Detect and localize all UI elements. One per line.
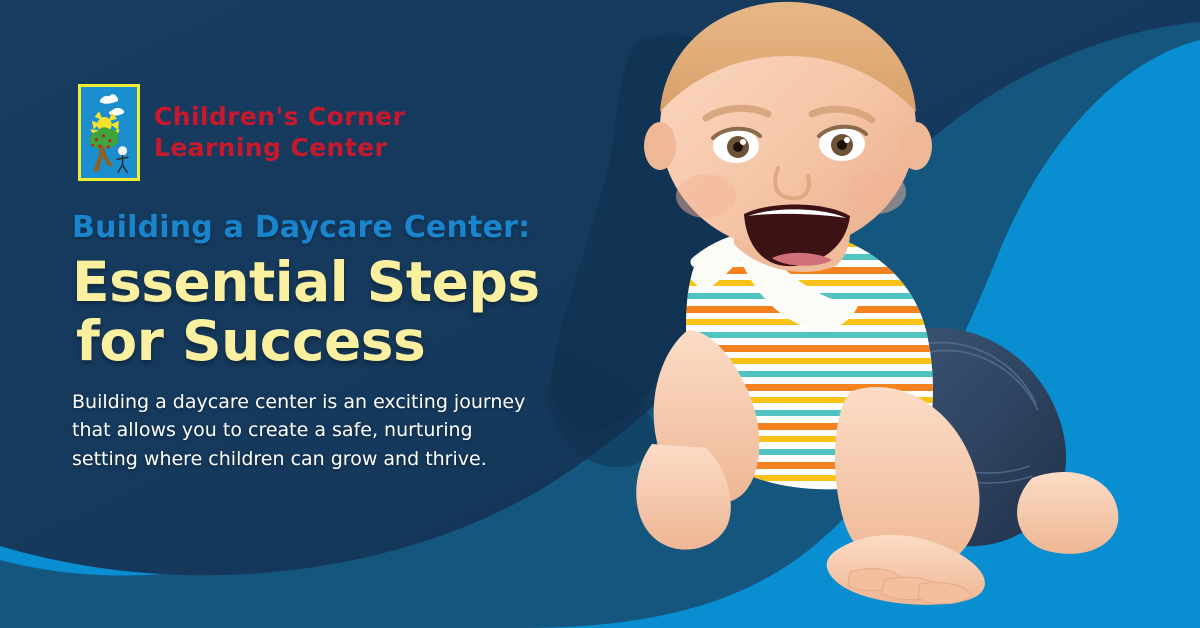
logo-line-1: Children's Corner xyxy=(154,102,405,131)
baby-photo xyxy=(520,0,1200,628)
childrens-corner-logo-mark-icon xyxy=(78,84,140,181)
logo-line-2: Learning Center xyxy=(154,133,405,164)
headline-line-1: Essential Steps xyxy=(72,250,540,314)
eyebrow-title: Building a Daycare Center: xyxy=(72,210,572,245)
site-logo[interactable]: Children's Corner Learning Center xyxy=(78,84,405,181)
logo-wordmark: Children's Corner Learning Center xyxy=(154,102,405,163)
copy-block: Building a Daycare Center: Essential Ste… xyxy=(72,210,572,473)
headline-line-2: for Success xyxy=(72,312,572,371)
body-paragraph: Building a daycare center is an exciting… xyxy=(72,388,542,474)
page-title: Essential Steps for Success xyxy=(72,253,572,372)
banner: Children's Corner Learning Center Buildi… xyxy=(0,0,1200,628)
